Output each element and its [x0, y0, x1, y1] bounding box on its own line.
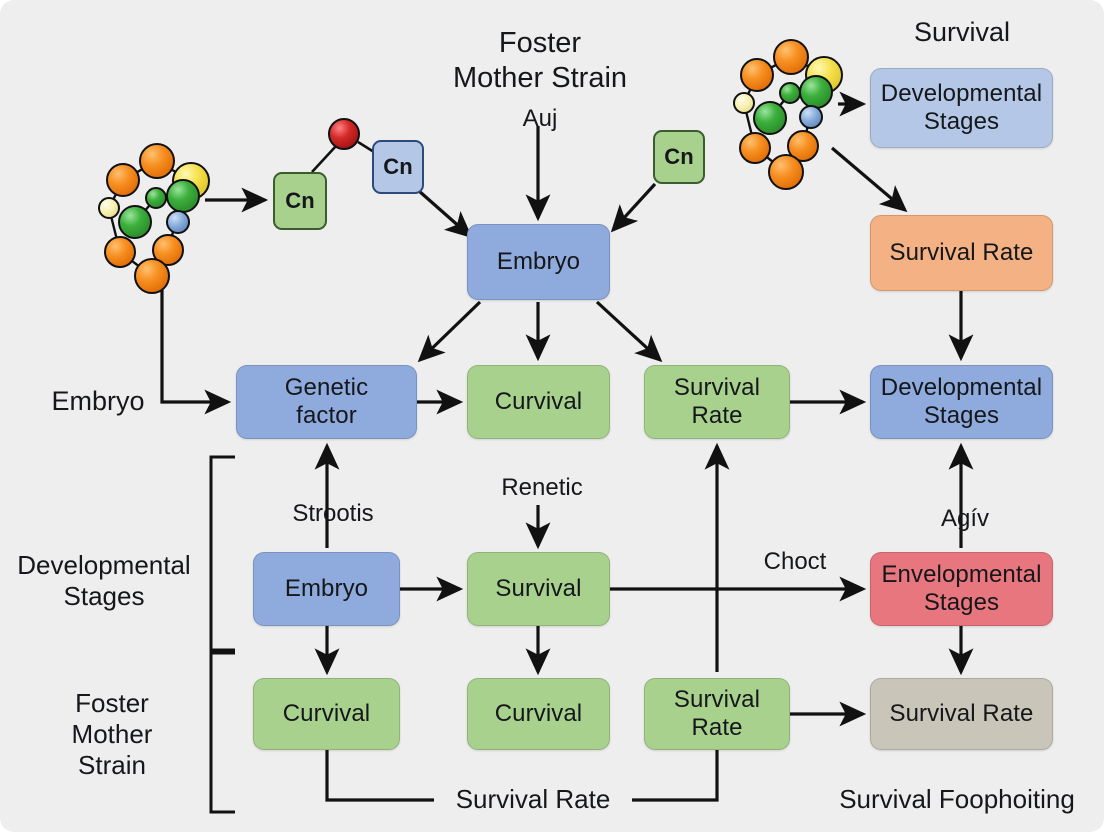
node-survival-rate-row2[interactable]: Survival Rate	[644, 365, 790, 439]
node-survival-rate-row4-taupe[interactable]: Survival Rate	[870, 678, 1053, 750]
edge-embryo-to-genetic	[420, 302, 480, 360]
node-curvival-row4-left[interactable]: Curvival	[253, 678, 400, 750]
edge-embryo-to-survrate-r2	[597, 302, 660, 360]
molecule-atom	[140, 144, 174, 178]
node-developmental-stages-top[interactable]: Developmental Stages	[870, 68, 1053, 148]
label-developmental-stages-left: Developmental Stages	[0, 550, 208, 612]
node-label: Curvival	[283, 700, 370, 728]
label-agiv: Agív	[920, 505, 1010, 534]
label-survival-top-right: Survival	[874, 16, 1050, 48]
node-label: Cn	[664, 144, 694, 170]
node-developmental-stages-row2[interactable]: Developmental Stages	[870, 365, 1053, 439]
node-genetic-factor[interactable]: Genetic factor	[236, 365, 417, 439]
molecule-atom	[740, 133, 770, 163]
label-strootis: Strootis	[268, 500, 398, 529]
node-cn-green-mid[interactable]: Cn	[653, 130, 705, 184]
label-survival-foophoiting: Survival Foophoiting	[822, 784, 1092, 815]
edge-mol-left-to-genetic	[162, 290, 228, 402]
node-survival-rate-top[interactable]: Survival Rate	[870, 215, 1053, 291]
node-label: Envelopmental Stages	[881, 561, 1041, 617]
bracket-developmental	[211, 457, 235, 650]
edge-mol-right-to-survrate	[832, 148, 905, 210]
node-survival-row3[interactable]: Survival	[467, 552, 610, 626]
bracket-foster	[211, 653, 235, 812]
molecule-atom	[105, 237, 135, 267]
label-embryo-left: Embryo	[28, 385, 168, 417]
node-curvival-row2[interactable]: Curvival	[467, 365, 610, 439]
node-embryo-row3[interactable]: Embryo	[253, 552, 400, 626]
molecule-atom	[769, 155, 803, 189]
label-auj: Auj	[490, 105, 590, 134]
node-envelopmental-stages-row3[interactable]: Envelopmental Stages	[870, 552, 1053, 626]
node-label: Cn	[285, 188, 315, 214]
node-label: Survival Rate	[889, 700, 1033, 728]
label-foster-mother-strain-top: Foster Mother Strain	[404, 26, 676, 96]
edge-bottom-to-survrate-r4	[632, 750, 717, 800]
molecule-atom	[780, 83, 800, 103]
node-label: Embryo	[497, 248, 580, 276]
node-label: Survival Rate	[674, 374, 760, 430]
label-choct: Choct	[745, 548, 845, 577]
label-foster-mother-strain-left: Foster Mother Strain	[30, 688, 194, 782]
molecule-atom	[774, 40, 808, 74]
molecule-atom	[167, 180, 199, 212]
molecule-atom	[135, 259, 169, 293]
node-label: Survival Rate	[674, 686, 760, 742]
molecule-atom	[119, 206, 151, 238]
node-label: Survival	[495, 575, 581, 603]
molecule-atom	[329, 119, 359, 149]
molecule-atom	[800, 76, 832, 108]
edge-cn-blue-to-embryo	[419, 191, 470, 236]
molecule-atom	[741, 59, 773, 91]
node-survival-rate-row4[interactable]: Survival Rate	[644, 678, 790, 750]
node-embryo-main[interactable]: Embryo	[467, 224, 610, 300]
node-label: Cn	[383, 154, 413, 180]
node-label: Developmental Stages	[881, 374, 1042, 430]
molecule-atom	[800, 106, 822, 128]
diagram-canvas: Cn Cn Cn Developmental Stages Survival R…	[0, 0, 1104, 832]
molecule-atom	[734, 93, 754, 113]
node-label: Curvival	[495, 700, 582, 728]
molecule-atom	[99, 198, 119, 218]
molecule-atom	[146, 188, 166, 208]
molecule-atom	[754, 102, 786, 134]
edge-cn-green-mid-to-embryo	[613, 184, 655, 230]
molecule-atom	[167, 211, 189, 233]
label-survival-rate-bottom: Survival Rate	[440, 784, 626, 815]
edge-curvival-r4a-bottom	[327, 750, 434, 800]
node-label: Curvival	[495, 388, 582, 416]
node-label: Genetic factor	[285, 374, 368, 430]
node-curvival-row4-mid[interactable]: Curvival	[467, 678, 610, 750]
node-cn-blue-left[interactable]: Cn	[372, 140, 424, 194]
node-label: Developmental Stages	[881, 80, 1042, 136]
node-cn-green-left[interactable]: Cn	[273, 172, 327, 230]
molecule-atom	[107, 164, 139, 196]
label-renetic: Renetic	[482, 474, 602, 503]
node-label: Survival Rate	[889, 239, 1033, 267]
edge-cn-green-to-red-atom	[312, 146, 336, 172]
node-label: Embryo	[285, 575, 368, 603]
